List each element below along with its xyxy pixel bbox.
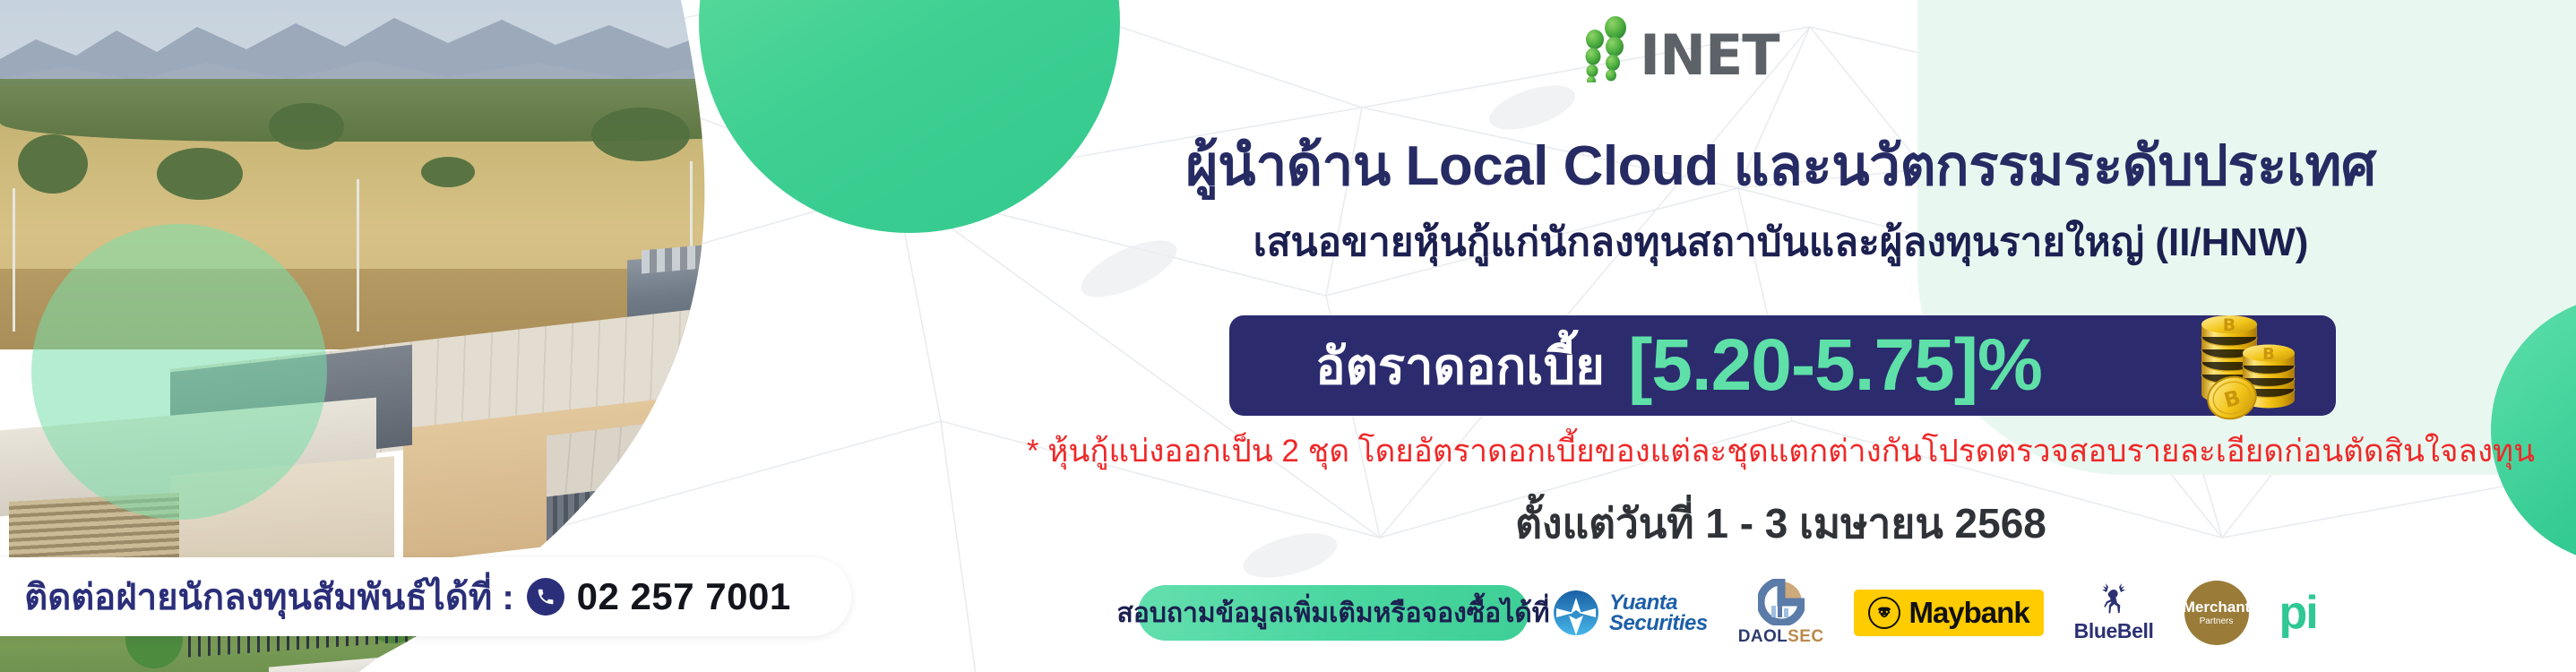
more-info-cta-button[interactable]: สอบถามข้อมูลเพิ่มเติมหรือจองซื้อได้ที่: [1138, 585, 1529, 641]
merchant-circle-icon: Merchant Partners: [2184, 581, 2249, 645]
bluebell-wordmark: BlueBell: [2074, 619, 2154, 643]
bluebell-deer-icon: [2094, 582, 2133, 618]
daol-line1: DAOL: [1738, 627, 1788, 646]
offer-disclaimer: * หุ้นกู้แบ่งออกเป็น 2 ชุด โดยอัตราดอกเบ…: [986, 432, 2576, 471]
svg-text:B: B: [2262, 345, 2275, 364]
broker-logo-daol[interactable]: DAOLSEC: [1738, 579, 1824, 647]
interest-rate-box: อัตราดอกเบี้ย [5.20-5.75]%: [1229, 315, 2336, 416]
broker-logos: Yuanta Securities: [1552, 579, 2317, 647]
offer-content-column: INET ผู้นำด้าน Local Cloud และนวัตกรรมระ…: [986, 0, 2576, 672]
gold-coin-stack-icon: B B B: [2178, 297, 2313, 432]
broker-logo-bluebell[interactable]: BlueBell: [2074, 582, 2154, 643]
daol-pie-chart-icon: [1758, 579, 1805, 625]
page-subtitle: เสนอขายหุ้นกู้แก่นักลงทุนสถาบันและผู้ลงท…: [986, 220, 2576, 267]
investor-relations-contact-card[interactable]: ติดต่อฝ่ายนักลงทุนสัมพันธ์ได้ที่ : 02 25…: [0, 557, 851, 636]
svg-text:B: B: [2223, 315, 2236, 335]
merchant-line2: Partners: [2200, 617, 2234, 626]
merchant-line1: Merchant: [2183, 599, 2251, 615]
green-circle-photo-overlay: [31, 224, 327, 520]
contact-phone-number[interactable]: 02 257 7001: [577, 575, 791, 618]
daol-line2: SEC: [1788, 627, 1823, 646]
broker-logo-yuanta[interactable]: Yuanta Securities: [1552, 589, 1708, 637]
inet-wordmark: INET: [1640, 30, 1779, 82]
maybank-wordmark: Maybank: [1908, 596, 2029, 630]
maybank-tiger-icon: [1868, 597, 1900, 629]
interest-rate-label: อัตราดอกเบี้ย: [1315, 326, 1605, 406]
subscription-channels-row: สอบถามข้อมูลเพิ่มเติมหรือจองซื้อได้ที่: [1138, 581, 2572, 645]
broker-logo-pi[interactable]: pi: [2279, 593, 2317, 633]
inet-bubbles-logo-icon: [1577, 16, 1633, 82]
interest-rate-value: [5.20-5.75]%: [1628, 323, 2042, 408]
inet-logo[interactable]: INET: [1577, 16, 1779, 82]
contact-label: ติดต่อฝ่ายนักลงทุนสัมพันธ์ได้ที่ :: [24, 568, 513, 625]
broker-logo-merchant-partners[interactable]: Merchant Partners: [2184, 581, 2249, 645]
phone-icon: [527, 578, 564, 616]
page-title: ผู้นำด้าน Local Cloud และนวัตกรรมระดับปร…: [986, 134, 2576, 198]
yuanta-line2: Securities: [1609, 613, 1708, 633]
inet-bond-offering-banner: ติดต่อฝ่ายนักลงทุนสัมพันธ์ได้ที่ : 02 25…: [0, 0, 2576, 672]
pi-wordmark-icon: pi: [2279, 593, 2317, 633]
yuanta-line1: Yuanta: [1609, 592, 1708, 613]
broker-logo-maybank[interactable]: Maybank: [1854, 590, 2043, 636]
photo-treeline: [0, 79, 896, 142]
offer-date-range: ตั้งแต่วันที่ 1 - 3 เมษายน 2568: [986, 491, 2576, 556]
yuanta-star-circle-icon: [1552, 589, 1600, 637]
